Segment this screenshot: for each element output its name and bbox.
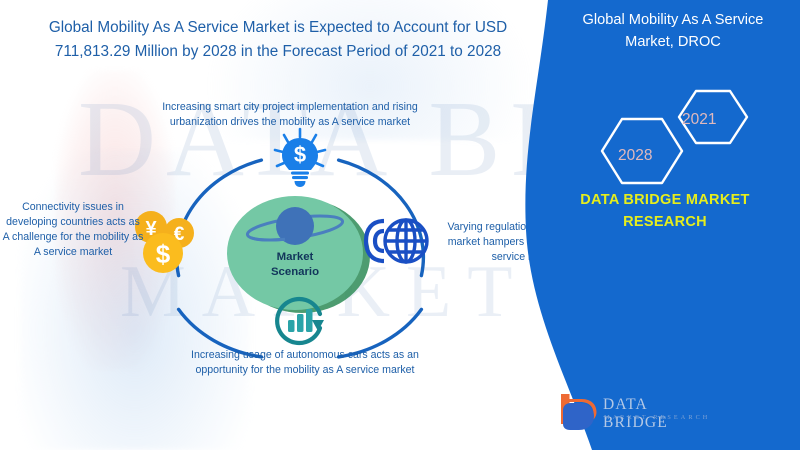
callout-bottom: Increasing usage of autonomous cars acts… — [172, 348, 438, 378]
brand-logo: DATA BRIDGE MARKET RESEARCH — [555, 392, 715, 438]
node-icon-right[interactable] — [360, 208, 432, 274]
callout-top: Increasing smart city project implementa… — [140, 100, 440, 130]
center-label-line-2: Scenario — [225, 265, 365, 280]
globe-network-icon — [360, 208, 432, 274]
hexagon-label-2021: 2021 — [682, 111, 716, 129]
callout-left: Connectivity issues in developing countr… — [2, 200, 144, 260]
right-panel: Global Mobility As A Service Market, DRO… — [500, 0, 800, 450]
hexagon-group: 2021 2028 — [570, 85, 770, 195]
svg-text:$: $ — [156, 239, 171, 269]
panel-title: Global Mobility As A Service Market, DRO… — [558, 10, 788, 54]
node-icon-bottom[interactable] — [268, 290, 334, 352]
center-node-label: Market Scenario — [225, 250, 365, 280]
slide-canvas: DATA BRIDGE MARKET RESEARCH Global Mobil… — [0, 0, 800, 450]
data-bridge-mark-icon — [555, 392, 603, 438]
center-label-line-1: Market — [225, 250, 365, 265]
panel-brand-text: DATA BRIDGE MARKET RESEARCH — [540, 190, 790, 234]
svg-text:$: $ — [294, 142, 306, 167]
node-icon-top[interactable]: $ — [268, 126, 332, 190]
hexagon-shapes — [570, 85, 770, 195]
growth-cycle-icon — [268, 290, 334, 352]
lightbulb-dollar-icon: $ — [268, 126, 332, 190]
hexagon-label-2028: 2028 — [618, 147, 652, 165]
droc-diagram: Market Scenario $ — [160, 130, 440, 380]
logo-tagline: MARKET RESEARCH — [604, 414, 710, 421]
page-title: Global Mobility As A Service Market is E… — [28, 16, 528, 63]
